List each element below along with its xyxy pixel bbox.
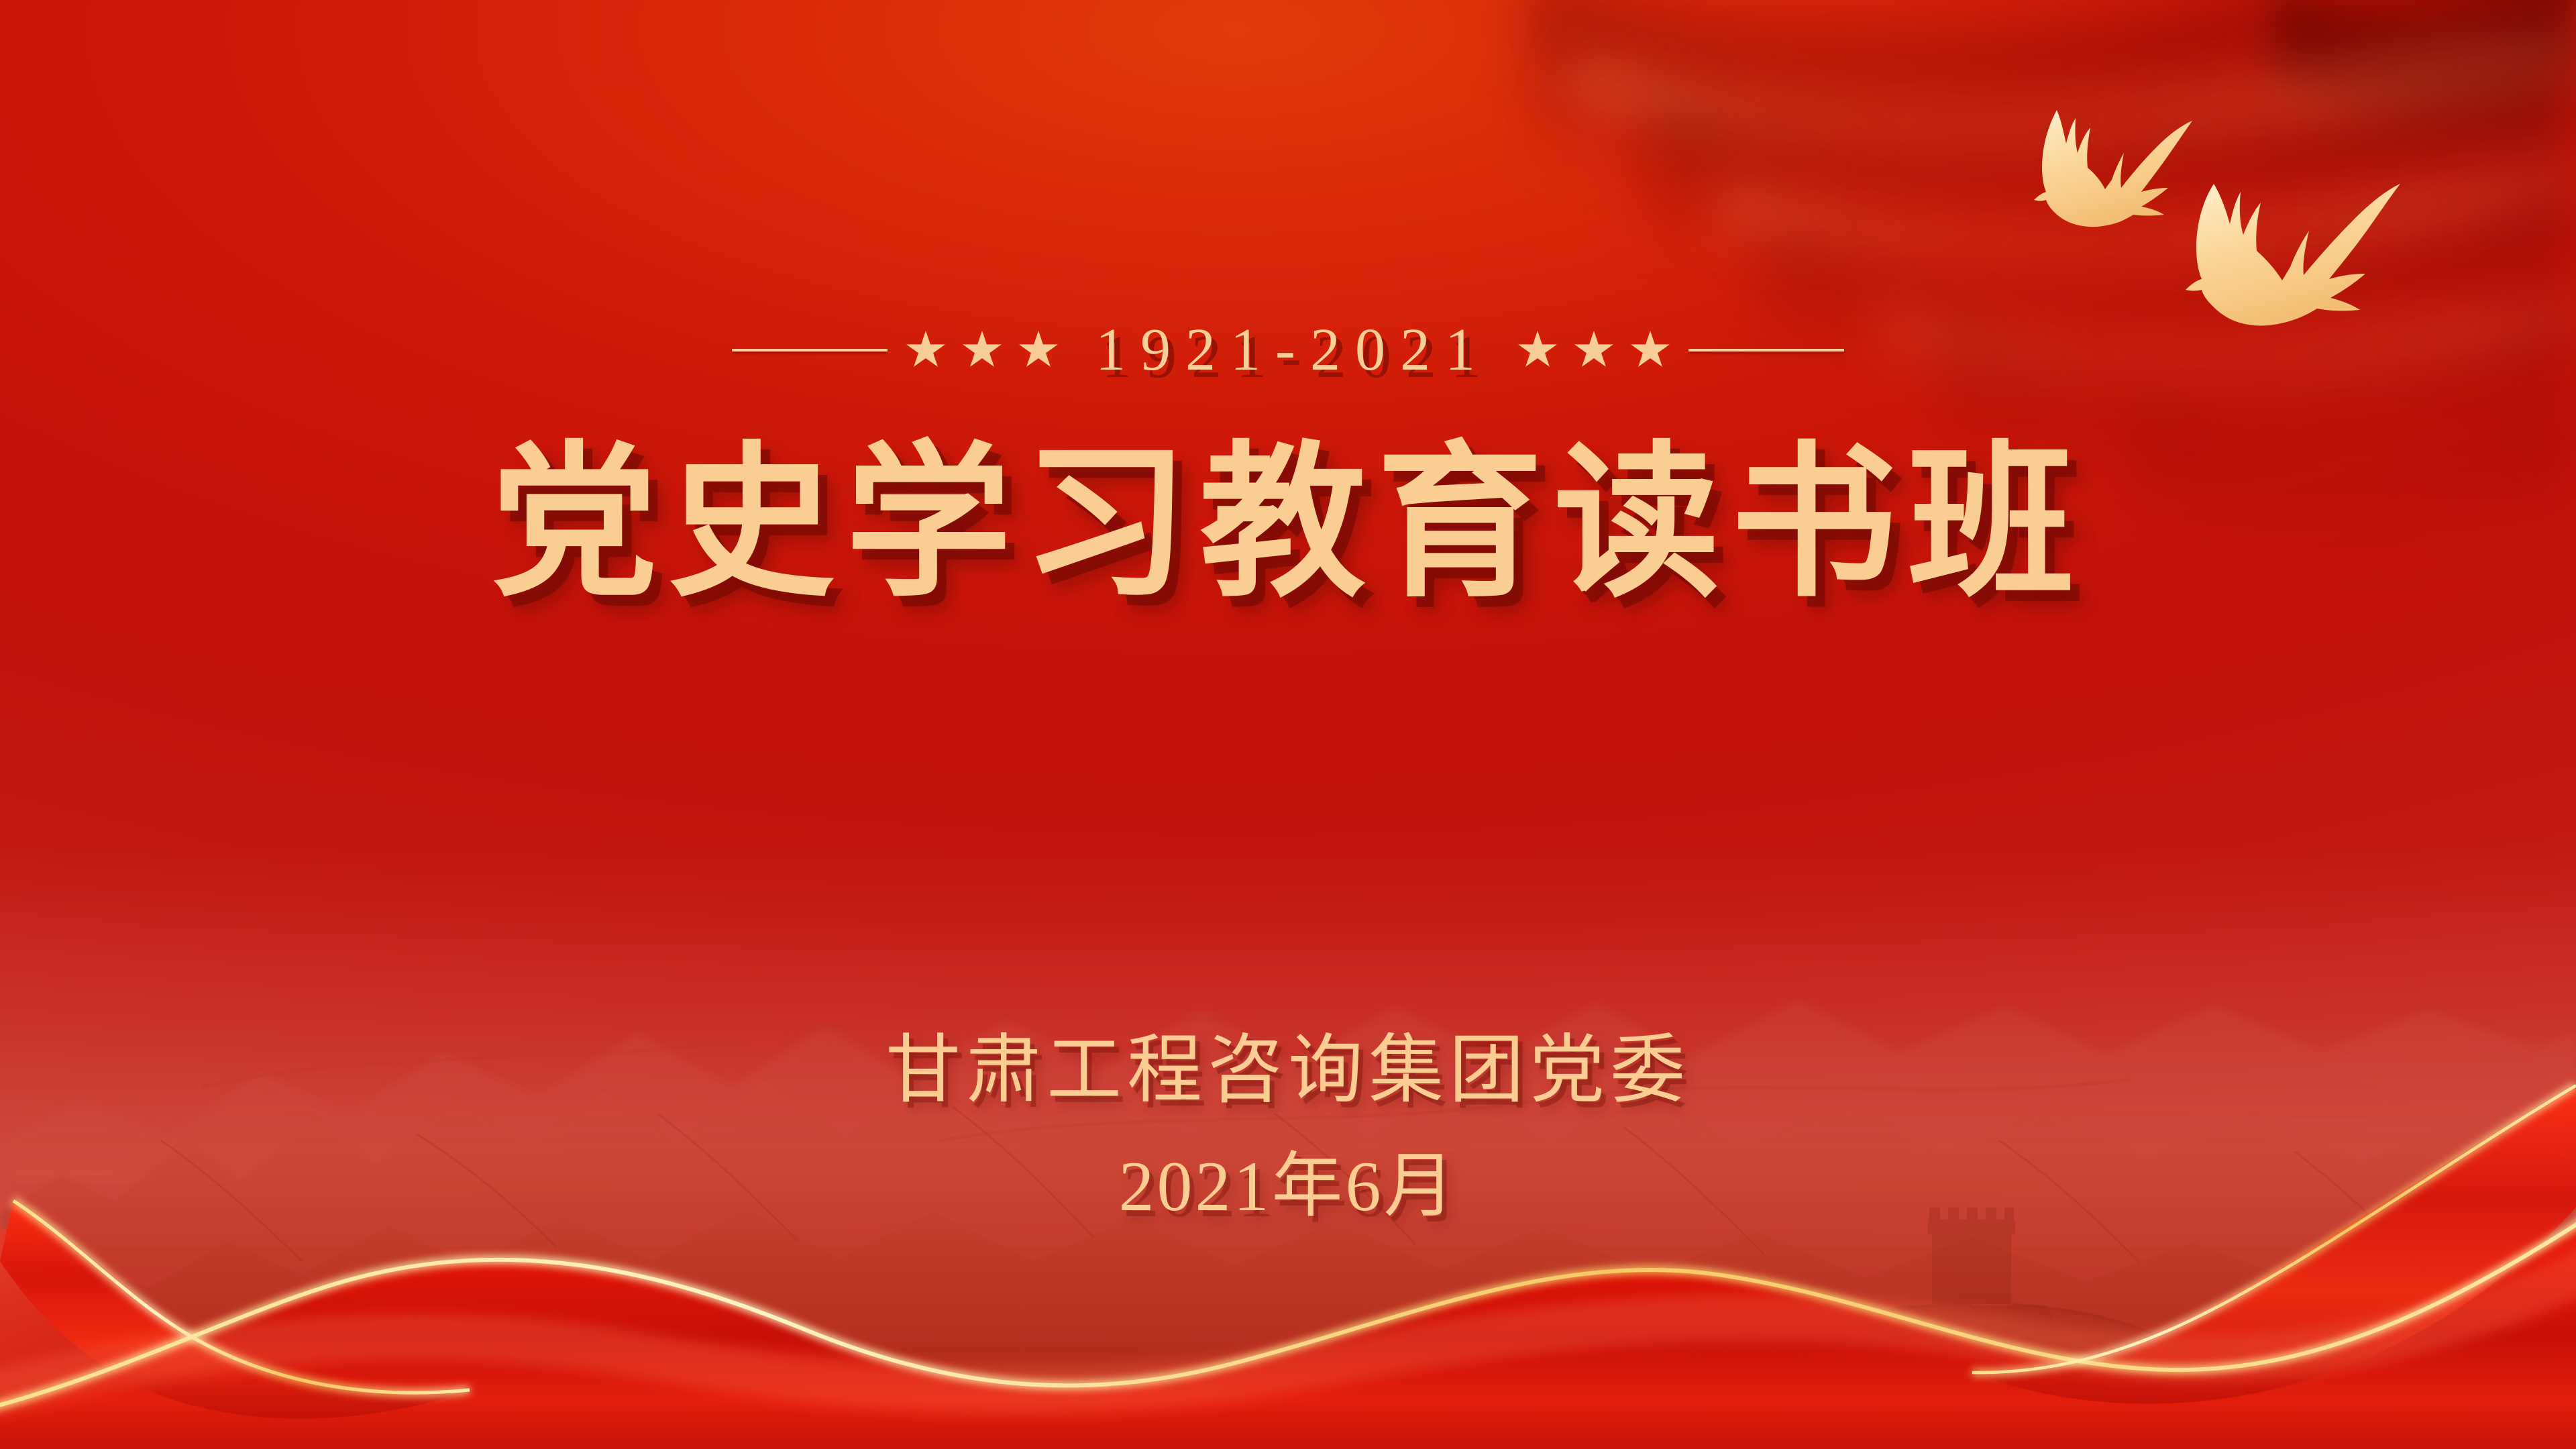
stars-right-group — [1499, 331, 1688, 370]
star-icon — [1518, 331, 1557, 370]
star-icon — [963, 331, 1002, 370]
organization-block: 甘肃工程咨询集团党委 2021年6月 — [0, 1023, 2576, 1254]
stars-left-group — [888, 331, 1077, 370]
star-icon — [1574, 331, 1613, 370]
doves-group — [1999, 60, 2428, 342]
poster-date: 2021年6月 — [0, 1119, 2576, 1254]
eyebrow-rule-right-icon — [1688, 349, 1844, 352]
eyebrow-rule-left-icon — [732, 349, 888, 352]
star-icon — [906, 331, 945, 370]
dove-small-icon — [2034, 110, 2192, 227]
organization-name: 甘肃工程咨询集团党委 — [0, 1023, 2576, 1119]
star-icon — [1631, 331, 1670, 370]
dove-icon — [1999, 60, 2428, 342]
page-title: 党史学习教育读书班 — [0, 427, 2576, 623]
star-icon — [1019, 331, 1058, 370]
poster-canvas: 1921-2021 党史学习教育读书班 甘肃工程咨询集团党委 2021年6月 — [0, 0, 2576, 1449]
anniversary-years: 1921-2021 — [1077, 320, 1499, 380]
dove-large-icon — [2186, 184, 2400, 325]
